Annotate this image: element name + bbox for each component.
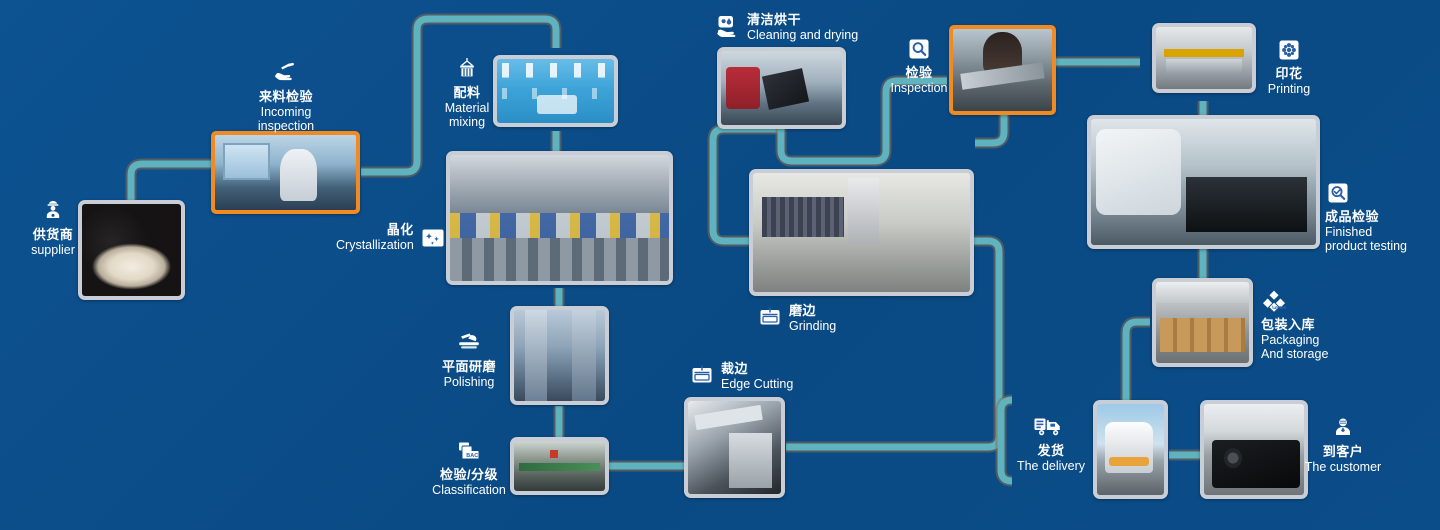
abc-sort-icon: BAC [456,438,482,464]
node-customer-cn: 到客户 [1302,445,1384,460]
flower-print-icon [1276,37,1302,63]
node-material-cn: 配料 [440,86,494,101]
node-classification: BAC 检验/分级 Classification [428,438,510,497]
photo-classification [510,437,609,495]
magnifier-icon [906,36,932,62]
node-delivery-en1: The delivery [1012,459,1090,473]
node-inspection-en1: Inspection [885,81,953,95]
node-printing: 印花 Printing [1259,37,1319,96]
node-packaging-en1: Packaging [1261,333,1328,347]
node-classification-en1: Classification [428,483,510,497]
grinder-head-icon [456,330,482,356]
node-delivery: 发货 The delivery [1012,414,1090,473]
photo-edge-cutting [684,397,785,498]
photo-raw-material [78,200,185,300]
node-material-en1: Material [440,101,494,115]
photo-packaging-storage [1152,278,1253,367]
supplier-worker-icon [40,198,66,224]
node-polishing: 平面研磨 Polishing [433,330,505,389]
hand-test-tube-icon [273,60,299,86]
node-grinding-cn: 磨边 [789,304,836,319]
node-edge-cutting: 裁边 Edge Cutting [689,362,793,391]
node-delivery-cn: 发货 [1012,444,1090,459]
node-incoming-en1: Incoming [246,105,326,119]
node-incoming-inspection: 来料检验 Incoming inspection [246,60,326,133]
node-material-en2: mixing [440,115,494,129]
photo-scada-screen [493,55,618,127]
silo-hopper-icon [454,56,480,82]
node-customer: 到客户 The customer [1302,415,1384,474]
photo-polishing [510,306,609,405]
node-finished-en2: product testing [1325,239,1407,253]
photo-incoming-lab [211,131,360,214]
customer-person-icon [1330,415,1356,441]
photo-printing [1152,23,1256,93]
crystal-sparkle-icon [420,225,446,251]
node-inspection-cn: 检验 [885,66,953,81]
svg-text:\u5305: \u5305 [1272,305,1287,310]
photo-crystallization [446,151,673,285]
node-packaging-storage: \u5305 包装入库 Packaging And storage [1261,288,1328,361]
node-printing-cn: 印花 [1259,67,1319,82]
node-supplier-cn: 供货商 [20,228,86,243]
node-polishing-en1: Polishing [433,375,505,389]
node-finished-cn: 成品检验 [1325,210,1407,225]
node-grinding-en1: Grinding [789,319,836,333]
photo-stove [1200,400,1308,499]
water-drop-hand-icon [715,13,741,39]
node-edge-cutting-cn: 裁边 [721,362,793,377]
node-crystallization: 晶化 Crystallization [336,223,446,252]
node-crystallization-cn: 晶化 [336,223,414,238]
photo-finished-testing [1087,115,1320,249]
node-packaging-en2: And storage [1261,347,1328,361]
node-finished-en1: Finished [1325,225,1407,239]
svg-text:C: C [474,453,478,459]
process-flow-diagram: 供货商 supplier 来料检验 Incoming inspection [0,0,1440,530]
node-crystallization-en1: Crystallization [336,238,414,252]
delivery-truck-icon [1033,414,1069,440]
node-finished-testing: 成品检验 Finished product testing [1325,180,1407,253]
node-cleaning-cn: 清洁烘干 [747,13,858,28]
photo-grinding [749,169,974,296]
node-printing-en1: Printing [1259,82,1319,96]
photo-cleaning-drying [717,47,846,129]
cutter-icon [757,304,783,330]
cutter-icon [689,362,715,388]
node-cleaning-drying: 清洁烘干 Cleaning and drying [715,13,858,42]
node-cleaning-en1: Cleaning and drying [747,28,858,42]
node-packaging-cn: 包装入库 [1261,318,1328,333]
magnifier-check-icon [1325,180,1351,206]
node-classification-cn: 检验/分级 [428,468,510,483]
package-box-icon: \u5305 [1261,288,1287,314]
node-supplier: 供货商 supplier [20,198,86,257]
node-edge-cutting-en1: Edge Cutting [721,377,793,391]
node-polishing-cn: 平面研磨 [433,360,505,375]
node-customer-en1: The customer [1302,460,1384,474]
node-supplier-en: supplier [20,243,86,257]
node-material-mixing: 配料 Material mixing [440,56,494,129]
photo-inspection [949,25,1056,115]
node-grinding: 磨边 Grinding [757,304,836,333]
photo-truck [1093,400,1168,499]
node-incoming-en2: inspection [246,119,326,133]
node-incoming-cn: 来料检验 [246,90,326,105]
node-inspection: 检验 Inspection [885,36,953,95]
